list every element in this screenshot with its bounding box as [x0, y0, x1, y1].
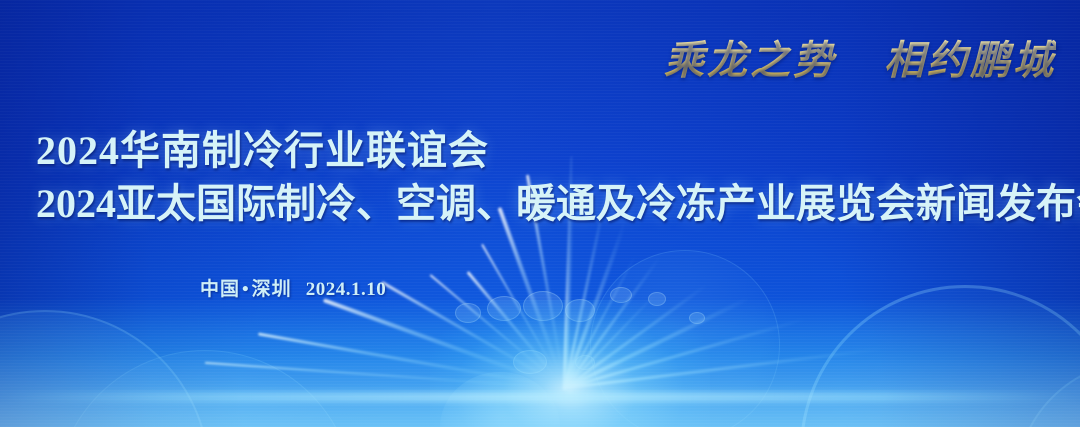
event-date: 2024.1.10 — [306, 279, 387, 300]
event-title-line-1: 2024华南制冷行业联谊会 — [36, 126, 1080, 176]
calligraphy-phrase-2: 相约鹏城 — [884, 38, 1056, 83]
calligraphy-phrase-1: 乘龙之势 — [664, 38, 836, 83]
city-label: 深圳 — [252, 279, 292, 300]
title-block: 2024华南制冷行业联谊会 2024亚太国际制冷、空调、暖通及冷冻产业展览会新闻… — [36, 126, 1080, 232]
event-banner: 乘龙之势 相约鹏城 2024华南制冷行业联谊会 2024亚太国际制冷、空调、暖通… — [0, 0, 1080, 427]
event-location-date: 中国•深圳2024.1.10 — [200, 274, 386, 301]
event-title-line-2: 2024亚太国际制冷、空调、暖通及冷冻产业展览会新闻发布会 — [36, 176, 1080, 232]
location-separator: • — [240, 279, 252, 300]
calligraphy-slogan: 乘龙之势 相约鹏城 — [664, 28, 1056, 86]
country-label: 中国 — [200, 279, 240, 300]
